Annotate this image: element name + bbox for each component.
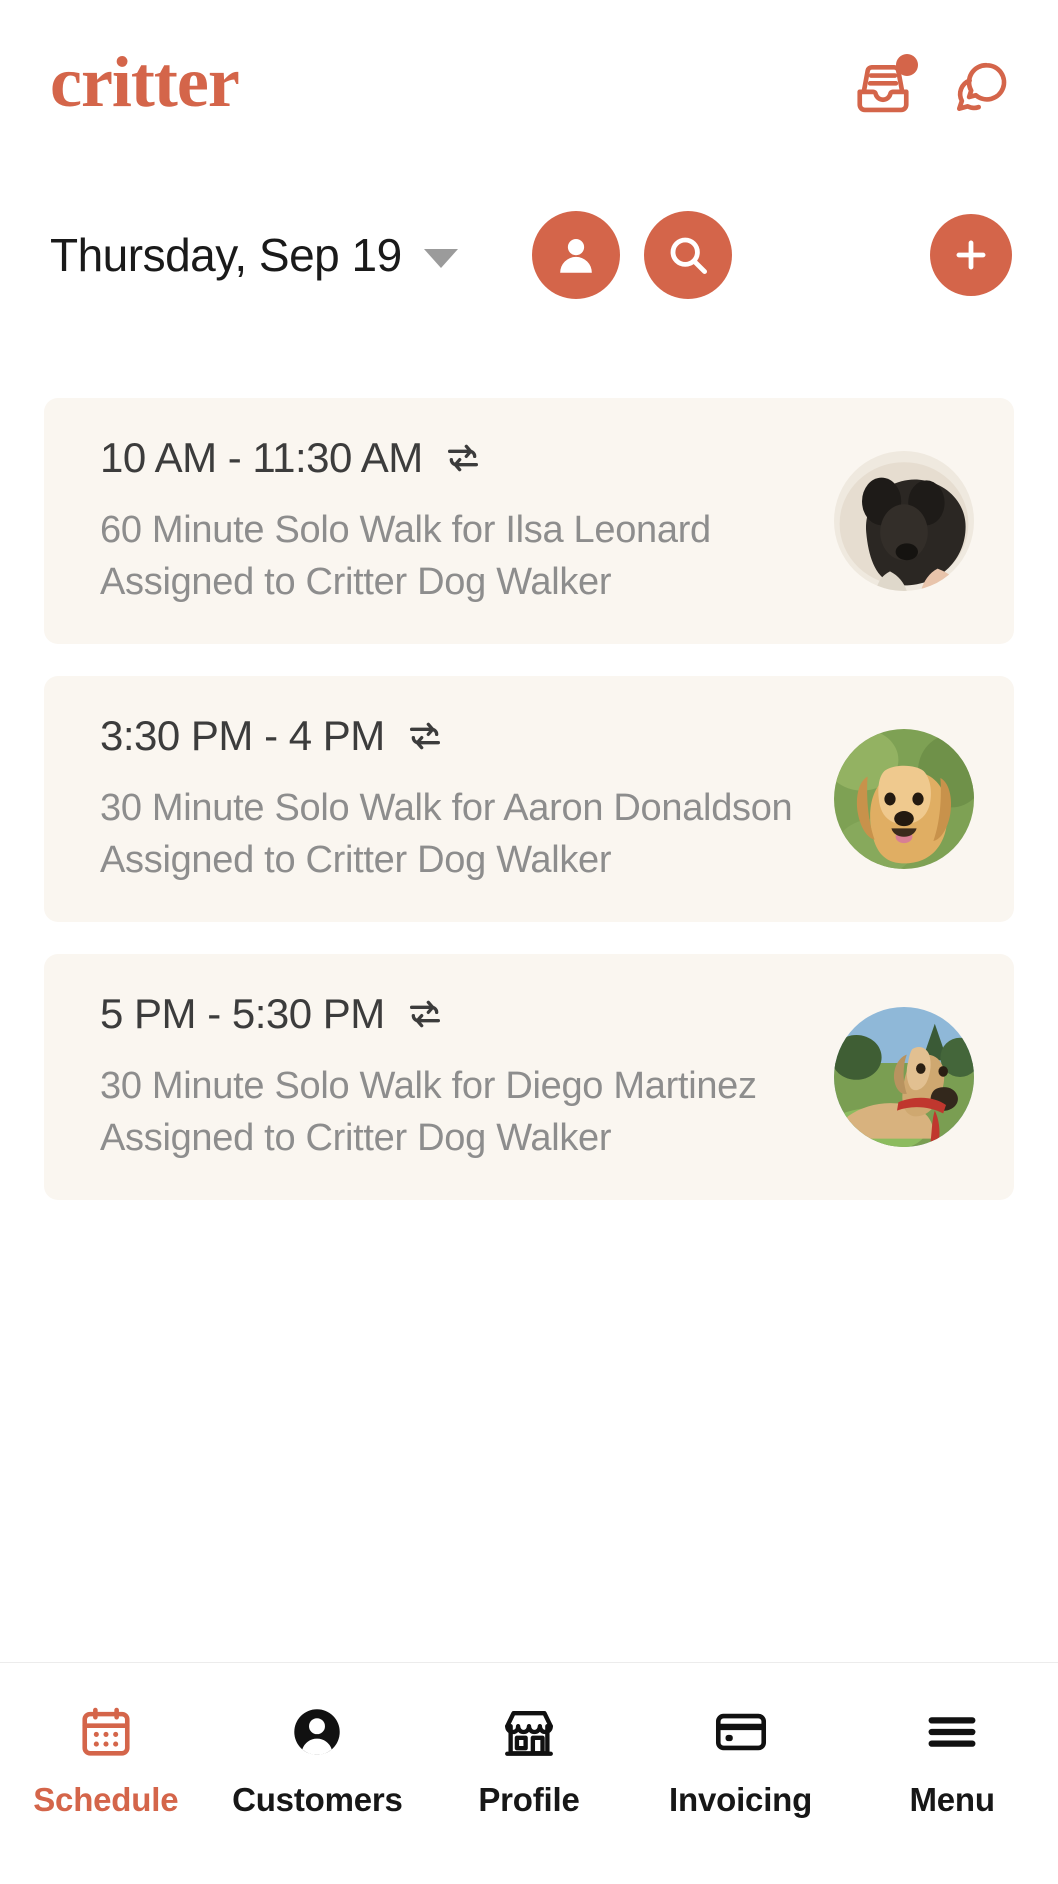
storefront-icon [500, 1699, 558, 1765]
nav-item-menu[interactable]: Menu [846, 1699, 1058, 1819]
appointment-card[interactable]: 10 AM - 11:30 AM 60 Minute Solo Walk for… [44, 398, 1014, 644]
search-icon [664, 231, 712, 279]
appointment-time-row: 10 AM - 11:30 AM [100, 434, 808, 482]
repeat-icon [443, 438, 483, 478]
nav-item-invoicing[interactable]: Invoicing [635, 1699, 847, 1819]
appointment-time: 5 PM - 5:30 PM [100, 990, 385, 1038]
appointment-time-row: 5 PM - 5:30 PM [100, 990, 808, 1038]
nav-label-schedule: Schedule [33, 1781, 178, 1819]
search-button[interactable] [644, 211, 732, 299]
nav-label-customers: Customers [232, 1781, 403, 1819]
selected-date: Thursday, Sep 19 [50, 228, 402, 282]
brand-logo: critter [50, 46, 239, 130]
appointment-details: 5 PM - 5:30 PM 30 Minute Solo Walk for D… [100, 990, 808, 1165]
appointment-details: 3:30 PM - 4 PM 30 Minute Solo Walk for A… [100, 712, 808, 887]
appointment-time: 3:30 PM - 4 PM [100, 712, 385, 760]
plus-icon [949, 233, 993, 277]
app-screen: critter Thursday, Sep 19 [0, 0, 1058, 1884]
black-curly-dog-photo [834, 451, 974, 591]
appointment-assignment: Assigned to Critter Dog Walker [100, 1112, 808, 1164]
appointment-time: 10 AM - 11:30 AM [100, 434, 423, 482]
pet-avatar [834, 729, 974, 869]
credit-card-icon [712, 1699, 770, 1765]
messages-button[interactable] [950, 57, 1012, 119]
appointment-card[interactable]: 3:30 PM - 4 PM 30 Minute Solo Walk for A… [44, 676, 1014, 922]
calendar-icon [77, 1699, 135, 1765]
pet-avatar [834, 1007, 974, 1147]
golden-retriever-photo [834, 729, 974, 869]
inbox-button[interactable] [852, 57, 914, 119]
person-icon [551, 230, 601, 280]
date-toolbar: Thursday, Sep 19 [0, 175, 1058, 335]
app-header: critter [0, 0, 1058, 175]
nav-item-profile[interactable]: Profile [423, 1699, 635, 1819]
person-circle-icon [288, 1699, 346, 1765]
appointment-details: 10 AM - 11:30 AM 60 Minute Solo Walk for… [100, 434, 808, 609]
chat-bubbles-icon [950, 57, 1012, 119]
repeat-icon [405, 994, 445, 1034]
chevron-down-icon [424, 249, 458, 268]
appointment-time-row: 3:30 PM - 4 PM [100, 712, 808, 760]
add-appointment-button[interactable] [930, 214, 1012, 296]
appointment-list: 10 AM - 11:30 AM 60 Minute Solo Walk for… [0, 398, 1058, 1232]
header-actions [852, 57, 1012, 119]
nav-item-schedule[interactable]: Schedule [0, 1699, 212, 1819]
appointment-service: 60 Minute Solo Walk for Ilsa Leonard [100, 504, 808, 556]
pet-avatar [834, 451, 974, 591]
account-button[interactable] [532, 211, 620, 299]
nav-item-customers[interactable]: Customers [212, 1699, 424, 1819]
hamburger-menu-icon [923, 1699, 981, 1765]
bottom-navigation: Schedule Customers [0, 1662, 1058, 1884]
appointment-assignment: Assigned to Critter Dog Walker [100, 834, 808, 886]
nav-label-profile: Profile [478, 1781, 579, 1819]
toolbar-actions [532, 211, 732, 299]
nav-label-invoicing: Invoicing [669, 1781, 812, 1819]
appointment-service: 30 Minute Solo Walk for Diego Martinez [100, 1060, 808, 1112]
nav-label-menu: Menu [909, 1781, 994, 1819]
date-selector[interactable]: Thursday, Sep 19 [50, 228, 458, 282]
appointment-assignment: Assigned to Critter Dog Walker [100, 556, 808, 608]
great-dane-photo [834, 1007, 974, 1147]
inbox-notification-badge [896, 54, 918, 76]
appointment-card[interactable]: 5 PM - 5:30 PM 30 Minute Solo Walk for D… [44, 954, 1014, 1200]
appointment-service: 30 Minute Solo Walk for Aaron Donaldson [100, 782, 808, 834]
repeat-icon [405, 716, 445, 756]
